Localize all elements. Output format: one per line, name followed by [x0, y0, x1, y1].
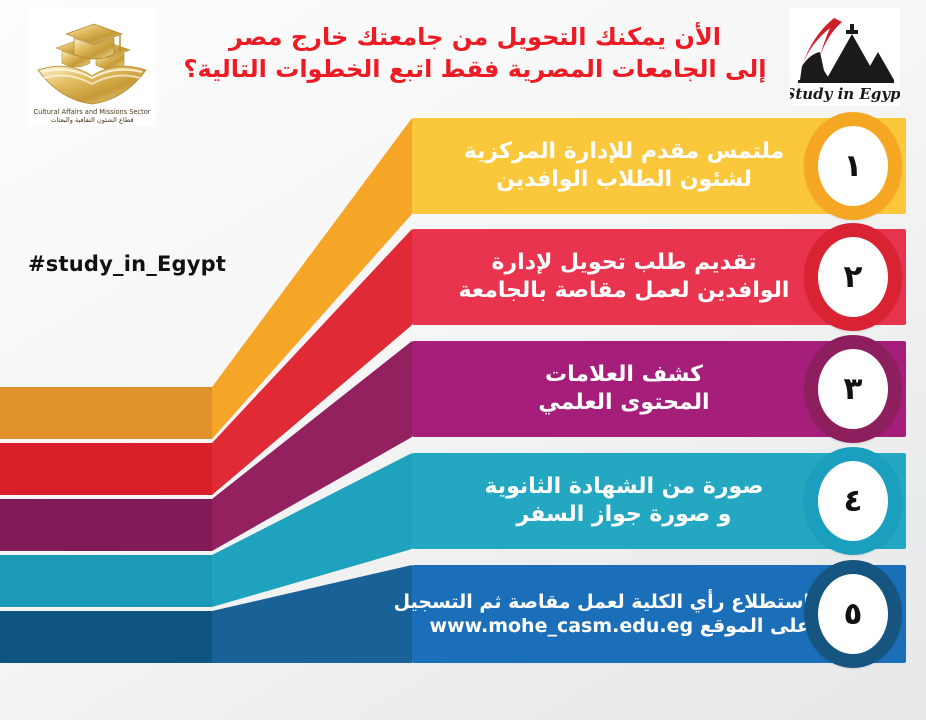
step-5-line-2: على الموقع www.mohe_casm.edu.eg — [438, 614, 810, 638]
logo-left-graphic: Cultural Affairs and Missions Sector قطا… — [28, 8, 156, 126]
step-5-line-1: استطلاع رأي الكلية لعمل مقاصة ثم التسجيل — [438, 590, 810, 614]
step-1-number: ١ — [844, 151, 863, 182]
page-title-line-1: الأن يمكنك التحويل من جامعتك خارج مصر — [170, 22, 780, 54]
step-5-url[interactable]: www.mohe_casm.edu.eg — [430, 615, 694, 637]
page-title-line-2: إلى الجامعات المصرية فقط اتبع الخطوات ال… — [170, 54, 780, 86]
step-3-number-badge: ٣ — [804, 335, 902, 443]
svg-text:Study in Egypt: Study in Egypt — [790, 85, 900, 103]
svg-text:قطاع الشئون الثقافية والبعثات: قطاع الشئون الثقافية والبعثات — [50, 116, 133, 124]
step-4-line-1: صورة من الشهادة الثانوية — [438, 473, 810, 501]
step-1-line-2: لشئون الطلاب الوافدين — [438, 166, 810, 194]
step-1-number-badge: ١ — [804, 112, 902, 220]
step-5-number-badge: ٥ — [804, 560, 902, 668]
step-5-number: ٥ — [844, 599, 863, 630]
svg-text:Cultural Affairs and Missions: Cultural Affairs and Missions Sector — [34, 108, 151, 116]
logo-right-graphic: Study in Egypt — [790, 8, 900, 106]
step-4-number: ٤ — [844, 486, 863, 517]
study-in-egypt-logo: Study in Egypt — [790, 8, 900, 106]
step-3-line-2: المحتوى العلمي — [438, 389, 810, 417]
hashtag-label: #study_in_Egypt — [28, 252, 226, 276]
step-3-line-1: كشف العلامات — [438, 361, 810, 389]
step-2-number-badge: ٢ — [804, 223, 902, 331]
step-4-line-2: و صورة جواز السفر — [438, 501, 810, 529]
infographic-canvas: ملتمس مقدم للإدارة المركزيةلشئون الطلاب … — [0, 0, 926, 720]
page-title: الأن يمكنك التحويل من جامعتك خارج مصرإلى… — [170, 22, 780, 85]
step-4-number-badge: ٤ — [804, 447, 902, 555]
cultural-affairs-and-missions-sector-logo: Cultural Affairs and Missions Sector قطا… — [28, 8, 156, 126]
step-1-line-1: ملتمس مقدم للإدارة المركزية — [438, 138, 810, 166]
step-2-line-1: تقديم طلب تحويل لإدارة — [438, 249, 810, 277]
step-2-line-2: الوافدين لعمل مقاصة بالجامعة — [438, 277, 810, 305]
step-2-number: ٢ — [844, 262, 863, 293]
step-3-number: ٣ — [844, 374, 863, 405]
